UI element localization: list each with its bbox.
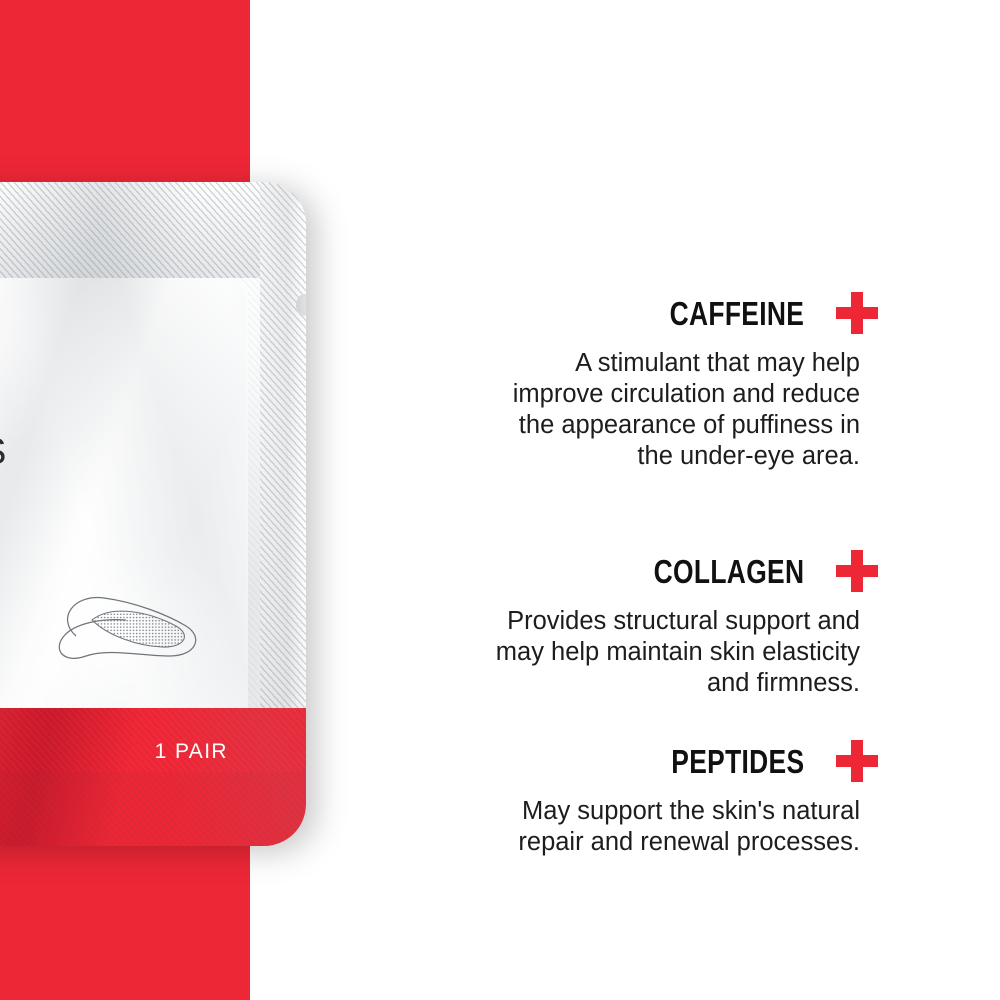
product-package: NG PATCHES PATCH 1 PAIR xyxy=(0,182,306,846)
package-title: NG PATCHES xyxy=(0,362,268,482)
package-title-line-2: PATCHES xyxy=(0,422,268,482)
ingredient-heading-row: PEPTIDES xyxy=(480,738,880,786)
ingredient-item-caffeine: CAFFEINE A stimulant that may help impro… xyxy=(480,290,880,472)
red-cross-icon xyxy=(834,291,880,337)
eye-patch-loop-icon xyxy=(46,578,216,678)
ingredient-title: PEPTIDES xyxy=(671,743,804,781)
package-footer: PATCH 1 PAIR xyxy=(0,740,250,764)
ingredient-item-peptides: PEPTIDES May support the skin's natural … xyxy=(480,738,880,858)
package-footer-right: 1 PAIR xyxy=(155,740,228,764)
ingredient-description: Provides structural support and may help… xyxy=(480,606,860,699)
package-body: NG PATCHES PATCH 1 PAIR xyxy=(0,182,306,846)
product-ingredients-infographic: NG PATCHES PATCH 1 PAIR xyxy=(0,0,1000,1000)
ingredient-description: May support the skin's natural repair an… xyxy=(480,796,860,858)
ingredients-list: CAFFEINE A stimulant that may help impro… xyxy=(480,0,1000,1000)
ingredient-title: CAFFEINE xyxy=(669,295,804,333)
ingredient-heading-row: COLLAGEN xyxy=(480,548,880,596)
ingredient-description: A stimulant that may help improve circul… xyxy=(480,348,860,472)
red-cross-icon xyxy=(834,739,880,785)
ingredient-heading-row: CAFFEINE xyxy=(480,290,880,338)
red-cross-icon xyxy=(834,549,880,595)
ingredient-title: COLLAGEN xyxy=(653,553,804,591)
ingredient-item-collagen: COLLAGEN Provides structural support and… xyxy=(480,548,880,699)
tear-notch-icon xyxy=(296,294,306,316)
package-title-line-1: NG xyxy=(0,362,268,422)
